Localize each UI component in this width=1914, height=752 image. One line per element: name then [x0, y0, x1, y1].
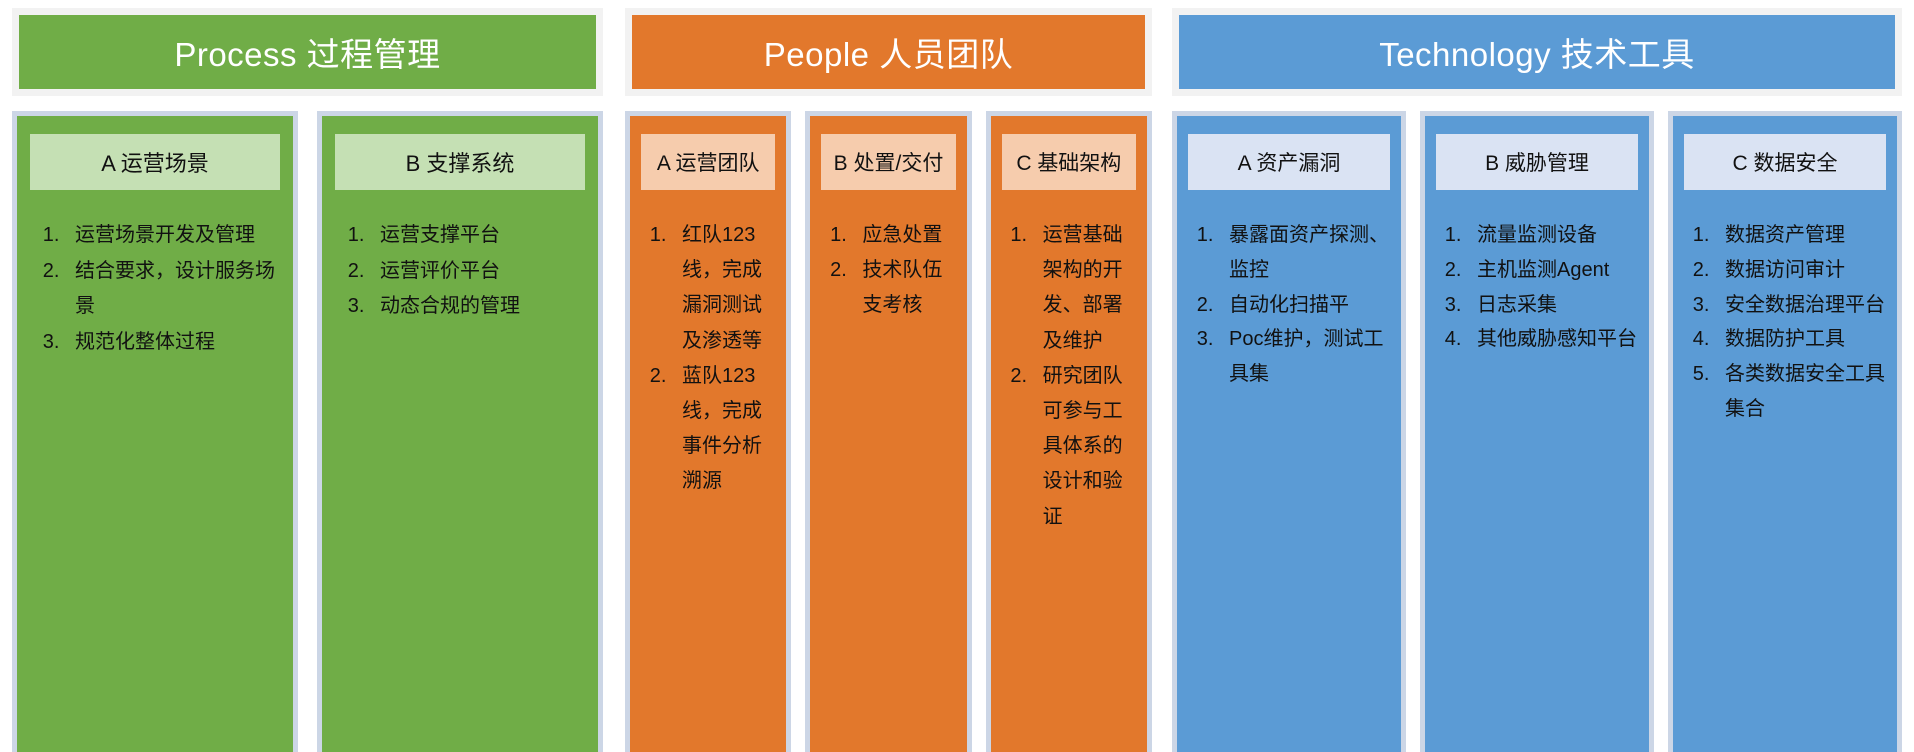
card-technology-c-title: C 数据安全: [1684, 134, 1886, 190]
list-item: 研究团队可参与工具体系的设计和验证: [1033, 359, 1141, 535]
list-item: 暴露面资产探测、监控: [1219, 218, 1395, 288]
card-process-b-title: B 支撑系统: [335, 134, 585, 190]
pillar-technology: Technology 技术工具 A 资产漏洞 暴露面资产探测、监控 自动化扫描平…: [1160, 0, 1914, 752]
card-people-b-list: 应急处置 技术队伍支考核: [810, 218, 966, 324]
list-item: 安全数据治理平台: [1715, 288, 1891, 323]
pillar-process: Process 过程管理 A 运营场景 运营场景开发及管理 结合要求，设计服务场…: [0, 0, 615, 752]
card-technology-b-list: 流量监测设备 主机监测Agent 日志采集 其他威胁感知平台: [1425, 218, 1649, 357]
list-item: 各类数据安全工具集合: [1715, 357, 1891, 427]
pillar-process-banner-frame: Process 过程管理: [12, 8, 603, 96]
list-item: 蓝队123线，完成事件分析溯源: [672, 359, 780, 500]
pillar-technology-cards: A 资产漏洞 暴露面资产探测、监控 自动化扫描平 Poc维护，测试工具集 B 威…: [1172, 111, 1902, 752]
pillar-people-banner[interactable]: People 人员团队: [632, 15, 1145, 89]
card-people-c-list: 运营基础架构的开发、部署及维护 研究团队可参与工具体系的设计和验证: [991, 218, 1147, 535]
card-people-a-list: 红队123线，完成漏洞测试及渗透等 蓝队123线，完成事件分析溯源: [630, 218, 786, 500]
card-people-c[interactable]: C 基础架构 运营基础架构的开发、部署及维护 研究团队可参与工具体系的设计和验证: [986, 111, 1152, 752]
pillar-technology-banner-frame: Technology 技术工具: [1172, 8, 1902, 96]
list-item: 运营支撑平台: [370, 218, 588, 254]
list-item: 数据防护工具: [1715, 322, 1891, 357]
list-item: 技术队伍支考核: [852, 253, 960, 323]
list-item: 红队123线，完成漏洞测试及渗透等: [672, 218, 780, 359]
pillar-technology-banner[interactable]: Technology 技术工具: [1179, 15, 1895, 89]
list-item: 数据访问审计: [1715, 253, 1891, 288]
list-item: 动态合规的管理: [370, 289, 588, 325]
list-item: 流量监测设备: [1467, 218, 1643, 253]
card-people-a-title: A 运营团队: [641, 134, 775, 190]
pillar-people: People 人员团队 A 运营团队 红队123线，完成漏洞测试及渗透等 蓝队1…: [615, 0, 1160, 752]
card-technology-b-title: B 威胁管理: [1436, 134, 1638, 190]
card-technology-c[interactable]: C 数据安全 数据资产管理 数据访问审计 安全数据治理平台 数据防护工具 各类数…: [1668, 111, 1902, 752]
list-item: 运营场景开发及管理: [65, 218, 283, 254]
list-item: 规范化整体过程: [65, 325, 283, 361]
card-people-c-title: C 基础架构: [1002, 134, 1136, 190]
ppt-three-pillar-diagram: Process 过程管理 A 运营场景 运营场景开发及管理 结合要求，设计服务场…: [0, 0, 1914, 752]
card-people-b-title: B 处置/交付: [821, 134, 955, 190]
pillar-people-cards: A 运营团队 红队123线，完成漏洞测试及渗透等 蓝队123线，完成事件分析溯源…: [625, 111, 1152, 752]
pillar-process-cards: A 运营场景 运营场景开发及管理 结合要求，设计服务场景 规范化整体过程 B 支…: [12, 111, 603, 752]
card-process-a-title: A 运营场景: [30, 134, 280, 190]
list-item: 运营评价平台: [370, 254, 588, 290]
list-item: 其他威胁感知平台: [1467, 322, 1643, 357]
card-process-b[interactable]: B 支撑系统 运营支撑平台 运营评价平台 动态合规的管理: [317, 111, 603, 752]
card-technology-c-list: 数据资产管理 数据访问审计 安全数据治理平台 数据防护工具 各类数据安全工具集合: [1673, 218, 1897, 427]
list-item: 应急处置: [852, 218, 960, 253]
list-item: 数据资产管理: [1715, 218, 1891, 253]
card-technology-a-list: 暴露面资产探测、监控 自动化扫描平 Poc维护，测试工具集: [1177, 218, 1401, 392]
list-item: 日志采集: [1467, 288, 1643, 323]
pillar-process-banner[interactable]: Process 过程管理: [19, 15, 596, 89]
card-technology-b[interactable]: B 威胁管理 流量监测设备 主机监测Agent 日志采集 其他威胁感知平台: [1420, 111, 1654, 752]
card-process-b-list: 运营支撑平台 运营评价平台 动态合规的管理: [322, 218, 598, 325]
card-people-b[interactable]: B 处置/交付 应急处置 技术队伍支考核: [805, 111, 971, 752]
list-item: 自动化扫描平: [1219, 288, 1395, 323]
list-item: 主机监测Agent: [1467, 253, 1643, 288]
list-item: 结合要求，设计服务场景: [65, 254, 283, 325]
card-process-a-list: 运营场景开发及管理 结合要求，设计服务场景 规范化整体过程: [17, 218, 293, 360]
card-technology-a-title: A 资产漏洞: [1188, 134, 1390, 190]
pillar-people-banner-frame: People 人员团队: [625, 8, 1152, 96]
card-technology-a[interactable]: A 资产漏洞 暴露面资产探测、监控 自动化扫描平 Poc维护，测试工具集: [1172, 111, 1406, 752]
card-people-a[interactable]: A 运营团队 红队123线，完成漏洞测试及渗透等 蓝队123线，完成事件分析溯源: [625, 111, 791, 752]
list-item: Poc维护，测试工具集: [1219, 322, 1395, 392]
list-item: 运营基础架构的开发、部署及维护: [1033, 218, 1141, 359]
card-process-a[interactable]: A 运营场景 运营场景开发及管理 结合要求，设计服务场景 规范化整体过程: [12, 111, 298, 752]
